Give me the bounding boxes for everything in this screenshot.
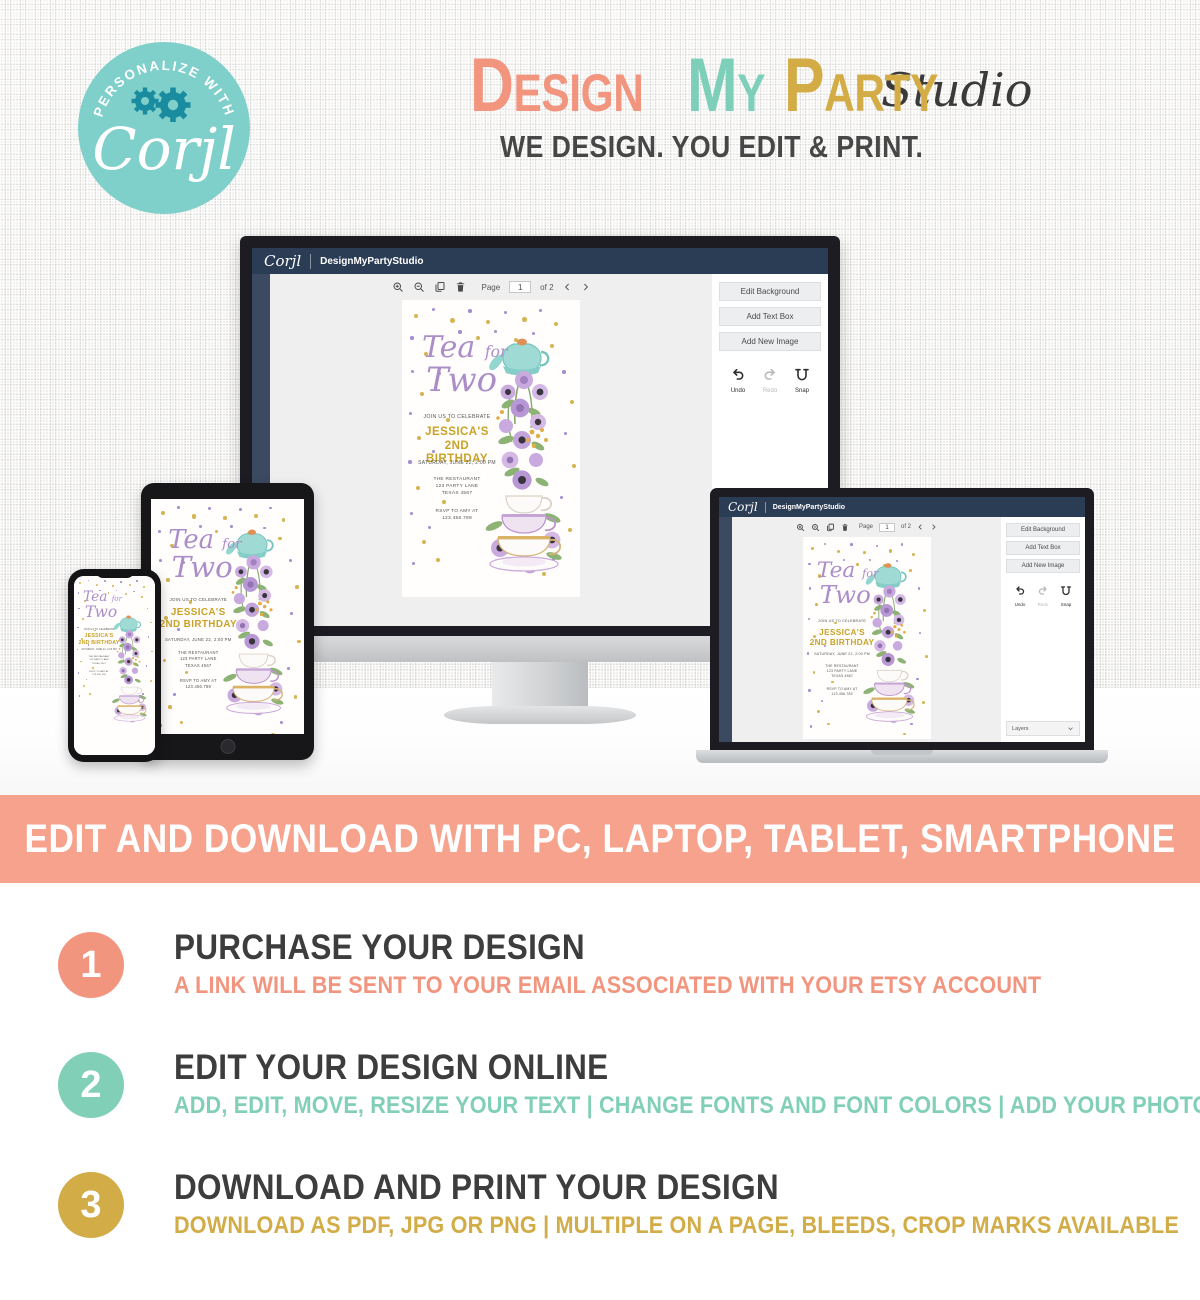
undo-label: Undo bbox=[1014, 602, 1026, 607]
step-subtitle-3: DOWNLOAD AS PDF, JPG OR PNG | MULTIPLE O… bbox=[174, 1212, 1179, 1240]
trash-icon[interactable] bbox=[841, 523, 849, 532]
corjl-editor-laptop: Corjl DesignMyPartyStudio Page 1 of 2 bbox=[719, 497, 1085, 742]
trash-icon[interactable] bbox=[455, 281, 466, 293]
devices-banner: EDIT AND DOWNLOAD WITH PC, LAPTOP, TABLE… bbox=[0, 795, 1200, 883]
chevron-right-icon[interactable] bbox=[930, 523, 937, 531]
laptop-corjl-logo: Corjl bbox=[728, 500, 758, 514]
step-number-badge-3: 3 bbox=[58, 1172, 124, 1238]
step-item-3: 3 DOWNLOAD AND PRINT YOUR DESIGN DOWNLOA… bbox=[0, 1145, 1200, 1265]
redo-button[interactable]: Redo bbox=[1037, 584, 1049, 607]
invitation-title-line2: Two bbox=[820, 583, 871, 606]
redo-label: Redo bbox=[762, 388, 778, 394]
invitation-date: SATURDAY, JUNE 22, 2:00 PM bbox=[156, 637, 240, 642]
banner-text: EDIT AND DOWNLOAD WITH PC, LAPTOP, TABLE… bbox=[24, 817, 1175, 862]
redo-icon bbox=[762, 367, 778, 383]
invitation-venue: THE RESTAURANT123 PARTY LANETEXAS 4567 bbox=[79, 656, 120, 666]
redo-icon bbox=[1037, 585, 1049, 597]
laptop-screen: Corjl DesignMyPartyStudio Page 1 of 2 bbox=[710, 488, 1094, 750]
zoom-in-icon[interactable] bbox=[392, 281, 404, 293]
smartphone-device: Tea forTwoJOIN US TO CELEBRATEJESSICA'S2… bbox=[68, 569, 161, 762]
snap-button[interactable]: Snap bbox=[1060, 584, 1072, 607]
chevron-left-icon[interactable] bbox=[917, 523, 924, 531]
invitation-title-for: for bbox=[485, 343, 508, 361]
add-new-image-button[interactable]: Add New Image bbox=[719, 332, 821, 351]
laptop-page-label: Page bbox=[859, 524, 873, 530]
step-subtitle-2: ADD, EDIT, MOVE, RESIZE YOUR TEXT | CHAN… bbox=[174, 1092, 1200, 1120]
zoom-in-icon[interactable] bbox=[796, 523, 805, 532]
undo-button[interactable]: Undo bbox=[730, 367, 746, 394]
invitation-title-line2: Two bbox=[172, 554, 233, 582]
invitation-title-for: for bbox=[862, 567, 878, 580]
invitation-rsvp: RSVP TO AMY AT123.456.789 bbox=[412, 508, 502, 522]
invitation-title-line1: Tea for bbox=[817, 561, 878, 581]
tablet-device: Tea forTwoJOIN US TO CELEBRATEJESSICA'S2… bbox=[141, 483, 314, 760]
laptop-device: Corjl DesignMyPartyStudio Page 1 of 2 bbox=[696, 488, 1108, 778]
step-number-badge-1: 1 bbox=[58, 932, 124, 998]
step-title-3: DOWNLOAD AND PRINT YOUR DESIGN bbox=[174, 1170, 1179, 1207]
brand-tagline: WE DESIGN. YOU EDIT & PRINT. bbox=[500, 129, 1076, 165]
invitation-title-for: for bbox=[112, 594, 122, 603]
invitation-date: SATURDAY, JUNE 22, 2:00 PM bbox=[807, 652, 877, 656]
laptop-left-rail[interactable] bbox=[719, 517, 732, 742]
laptop-editor-body: Page 1 of 2 bbox=[719, 517, 1085, 742]
phone-notch bbox=[96, 569, 134, 578]
invitation-name-line1: JESSICA'S bbox=[810, 628, 875, 638]
laptop-editor-toolbar: Page 1 of 2 bbox=[796, 517, 937, 537]
laptop-page-input[interactable]: 1 bbox=[879, 523, 895, 532]
invitation-rsvp: RSVP TO AMY AT123.456.789 bbox=[160, 678, 237, 690]
laptop-canvas-area: Page 1 of 2 bbox=[732, 517, 1001, 742]
redo-label: Redo bbox=[1037, 602, 1049, 607]
invitation-rsvp: RSVP TO AMY AT123.456.789 bbox=[79, 671, 120, 678]
step-item-2: 2 EDIT YOUR DESIGN ONLINE ADD, EDIT, MOV… bbox=[0, 1025, 1200, 1145]
invitation-name-line2: 2ND BIRTHDAY bbox=[810, 638, 875, 648]
invitation-intro: JOIN US TO CELEBRATE bbox=[412, 414, 502, 420]
laptop-editor-topbar: Corjl DesignMyPartyStudio bbox=[719, 497, 1085, 517]
laptop-tool-row: Undo Redo Snap bbox=[1001, 584, 1085, 607]
laptop-editor-brand-name: DesignMyPartyStudio bbox=[773, 504, 845, 511]
brand-lockup: Design My Party Studio WE DESIGN. YOU ED… bbox=[470, 50, 1170, 165]
page-input[interactable]: 1 bbox=[509, 281, 531, 293]
page-total: of 2 bbox=[540, 283, 553, 292]
snap-label: Snap bbox=[794, 388, 810, 394]
add-text-box-button[interactable]: Add Text Box bbox=[719, 307, 821, 326]
step-title-2: EDIT YOUR DESIGN ONLINE bbox=[174, 1050, 1200, 1087]
invitation-intro: JOIN US TO CELEBRATE bbox=[79, 628, 120, 631]
step-title-1: PURCHASE YOUR DESIGN bbox=[174, 930, 1041, 967]
snap-icon bbox=[794, 367, 810, 383]
step-text-1: PURCHASE YOUR DESIGN A LINK WILL BE SENT… bbox=[174, 930, 1138, 1001]
invitation-date: SATURDAY, JUNE 22, 2:00 PM bbox=[408, 460, 506, 466]
invitation-intro: JOIN US TO CELEBRATE bbox=[160, 597, 237, 602]
chevron-right-icon[interactable] bbox=[581, 282, 590, 292]
invitation-name-line1: JESSICA'S bbox=[160, 607, 237, 618]
snap-button[interactable]: Snap bbox=[794, 367, 810, 394]
edit-background-button[interactable]: Edit Background bbox=[719, 282, 821, 301]
laptop-right-panel: Edit Background Add Text Box Add New Ima… bbox=[1001, 517, 1085, 742]
invitation-venue: THE RESTAURANT123 PARTY LANETEXAS 4567 bbox=[810, 664, 875, 680]
duplicate-icon[interactable] bbox=[826, 523, 835, 532]
zoom-out-icon[interactable] bbox=[413, 281, 425, 293]
duplicate-icon[interactable] bbox=[434, 281, 446, 293]
phone-invitation: Tea forTwoJOIN US TO CELEBRATEJESSICA'S2… bbox=[74, 576, 155, 755]
invitation-date: SATURDAY, JUNE 22, 2:00 PM bbox=[77, 649, 122, 651]
invitation-title-line1: Tea for bbox=[422, 334, 507, 363]
laptop-hinge-notch bbox=[871, 750, 933, 755]
brand-word-party: Party bbox=[784, 50, 938, 123]
chevron-down-icon bbox=[1067, 725, 1074, 732]
brand-word-design: Design bbox=[470, 50, 643, 123]
add-text-box-button[interactable]: Add Text Box bbox=[1006, 541, 1080, 555]
invitation-intro: JOIN US TO CELEBRATE bbox=[810, 619, 875, 623]
tablet-invitation: Tea forTwoJOIN US TO CELEBRATEJESSICA'S2… bbox=[151, 499, 304, 734]
undo-button[interactable]: Undo bbox=[1014, 584, 1026, 607]
step-text-3: DOWNLOAD AND PRINT YOUR DESIGN DOWNLOAD … bbox=[174, 1170, 1200, 1241]
step-text-2: EDIT YOUR DESIGN ONLINE ADD, EDIT, MOVE,… bbox=[174, 1050, 1200, 1121]
step-item-1: 1 PURCHASE YOUR DESIGN A LINK WILL BE SE… bbox=[0, 905, 1200, 1025]
personalize-with-corjl-badge: PERSONALIZE WITH bbox=[78, 42, 250, 214]
undo-label: Undo bbox=[730, 388, 746, 394]
invitation-title-line2: Two bbox=[426, 364, 497, 396]
steps-list: 1 PURCHASE YOUR DESIGN A LINK WILL BE SE… bbox=[0, 905, 1200, 1265]
editor-tool-row: Undo Redo Snap bbox=[712, 367, 828, 394]
edit-background-button[interactable]: Edit Background bbox=[1006, 523, 1080, 537]
laptop-topbar-divider bbox=[765, 502, 766, 513]
topbar-divider bbox=[310, 254, 311, 269]
editor-topbar: Corjl DesignMyPartyStudio bbox=[252, 248, 828, 274]
monitor-base bbox=[444, 706, 636, 724]
step-subtitle-1: A LINK WILL BE SENT TO YOUR EMAIL ASSOCI… bbox=[174, 972, 1041, 1000]
laptop-page-total: of 2 bbox=[901, 524, 911, 530]
badge-script-label: Corjl bbox=[92, 120, 236, 178]
laptop-invitation-canvas[interactable]: Tea forTwoJOIN US TO CELEBRATEJESSICA'S2… bbox=[803, 537, 931, 739]
redo-button[interactable]: Redo bbox=[762, 367, 778, 394]
layers-dropdown[interactable]: Layers bbox=[1006, 721, 1080, 736]
invitation-venue: THE RESTAURANT123 PARTY LANETEXAS 4567 bbox=[160, 650, 237, 669]
phone-screen: Tea forTwoJOIN US TO CELEBRATEJESSICA'S2… bbox=[74, 576, 155, 755]
snap-icon bbox=[1060, 585, 1072, 597]
corjl-logo: Corjl bbox=[264, 252, 301, 270]
invitation-rsvp: RSVP TO AMY AT123.456.789 bbox=[810, 687, 875, 697]
undo-icon bbox=[1014, 585, 1026, 597]
invitation-canvas[interactable]: Tea forTwoJOIN US TO CELEBRATEJESSICA'S2… bbox=[402, 300, 580, 597]
step-number-badge-2: 2 bbox=[58, 1052, 124, 1118]
undo-icon bbox=[730, 367, 746, 383]
invitation-venue: THE RESTAURANT123 PARTY LANETEXAS 4567 bbox=[412, 476, 502, 498]
invitation-title-line2: Two bbox=[85, 605, 117, 620]
invitation-name-line2: 2ND BIRTHDAY bbox=[79, 640, 120, 646]
brand-word-my: My bbox=[687, 50, 765, 123]
editor-brand-name: DesignMyPartyStudio bbox=[320, 256, 423, 267]
invitation-name-line2: 2ND BIRTHDAY bbox=[160, 619, 237, 630]
page-label: Page bbox=[481, 283, 500, 292]
layers-label: Layers bbox=[1012, 726, 1029, 732]
editor-toolbar: Page 1 of 2 bbox=[392, 274, 589, 300]
snap-label: Snap bbox=[1060, 602, 1072, 607]
invitation-name-line1: JESSICA'S bbox=[412, 426, 502, 439]
brand-wordmark: Design My Party Studio bbox=[470, 50, 1170, 123]
zoom-out-icon[interactable] bbox=[811, 523, 820, 532]
tablet-home-button[interactable] bbox=[220, 739, 235, 754]
editor-canvas-area: Page 1 of 2 bbox=[270, 274, 712, 626]
invitation-name-line1: JESSICA'S bbox=[79, 633, 120, 639]
tablet-screen: Tea forTwoJOIN US TO CELEBRATEJESSICA'S2… bbox=[151, 499, 304, 734]
add-new-image-button[interactable]: Add New Image bbox=[1006, 559, 1080, 573]
chevron-left-icon[interactable] bbox=[563, 282, 572, 292]
